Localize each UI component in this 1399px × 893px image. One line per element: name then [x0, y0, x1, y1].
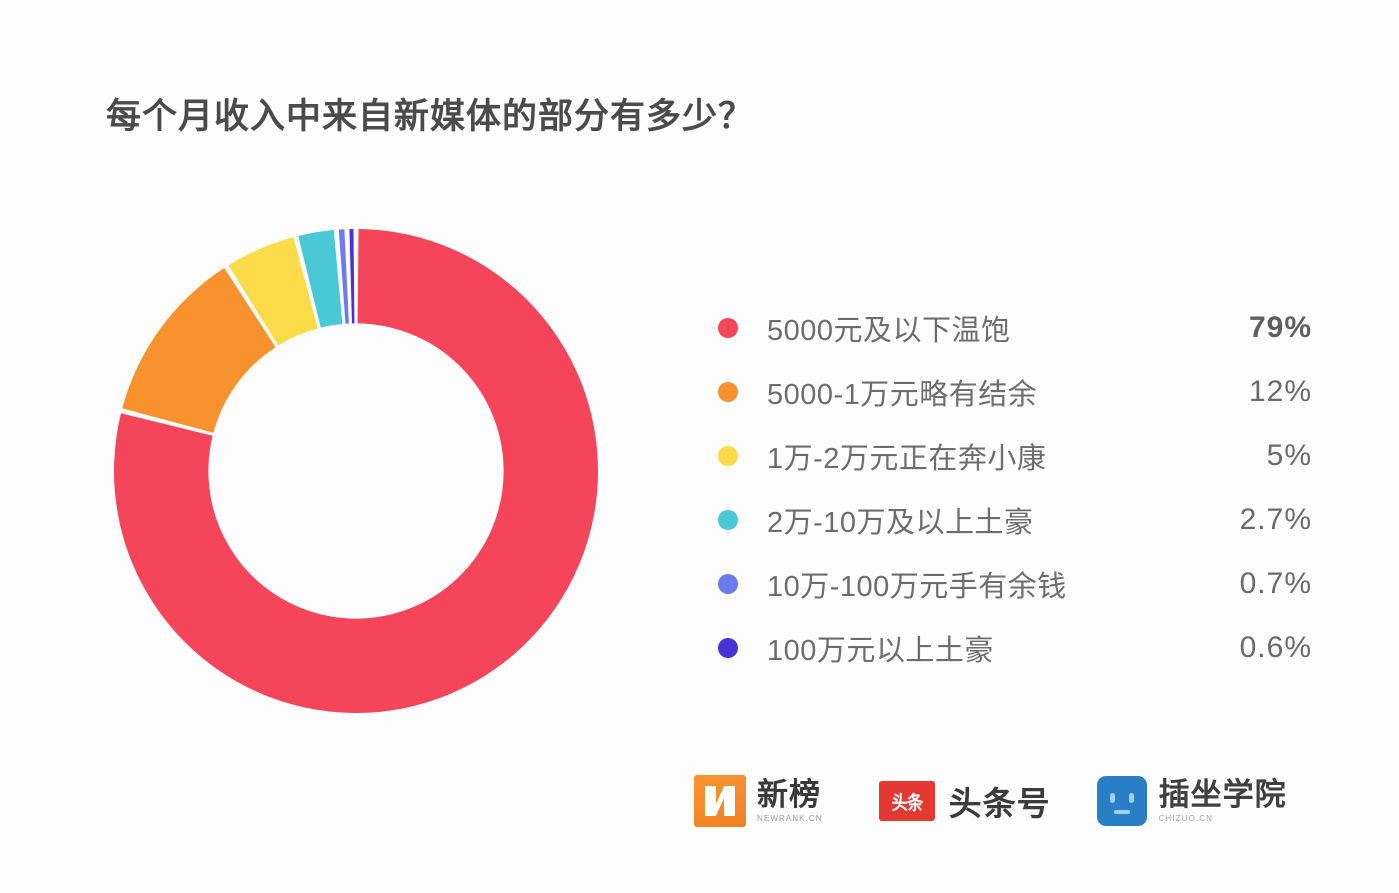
legend-item-label: 1万-2万元正在奔小康 [767, 435, 1046, 477]
chizuo-wordmark: 插坐学院 CHIZUO.CN [1159, 779, 1287, 823]
legend-color-swatch-icon [718, 574, 738, 594]
legend-item[interactable]: 10万-100万元手有余钱0.7% [712, 552, 1312, 616]
logo-chizuo: 插坐学院 CHIZUO.CN [1097, 776, 1287, 826]
legend-item-label: 100万元以上土豪 [767, 627, 994, 669]
legend-item-percent: 5% [1267, 439, 1312, 473]
newrank-name-en: NEWRANK.CN [757, 814, 823, 823]
chizuo-mouth-icon [1114, 810, 1130, 814]
newrank-name-cn: 新榜 [757, 779, 823, 811]
footer-logo-row: 新榜 NEWRANK.CN 头条 头条号 插坐学院 CHIZUO.CN [694, 775, 1287, 827]
legend-item-label: 5000-1万元略有结余 [767, 371, 1037, 413]
legend-item-percent: 0.7% [1240, 567, 1312, 601]
legend-color-swatch-icon [718, 446, 738, 466]
legend: 5000元及以下温饱79%5000-1万元略有结余12%1万-2万元正在奔小康5… [712, 296, 1312, 680]
legend-color-swatch-icon [718, 638, 738, 658]
legend-item[interactable]: 2万-10万及以上土豪2.7% [712, 488, 1312, 552]
logo-toutiaohao: 头条 头条号 [879, 777, 1051, 825]
legend-item[interactable]: 5000-1万元略有结余12% [712, 360, 1312, 424]
chizuo-mark-icon [1097, 776, 1147, 826]
legend-item-label: 5000元及以下温饱 [767, 307, 1011, 349]
newrank-glyph-icon [702, 782, 738, 820]
legend-item-percent: 0.6% [1240, 631, 1312, 665]
legend-item-percent: 12% [1249, 375, 1312, 409]
legend-item-label: 10万-100万元手有余钱 [767, 563, 1067, 605]
newrank-mark-icon [694, 775, 746, 827]
legend-item[interactable]: 100万元以上土豪0.6% [712, 616, 1312, 680]
donut-chart-svg [110, 225, 602, 717]
legend-item-label: 2万-10万及以上土豪 [767, 499, 1034, 541]
legend-color-swatch-icon [718, 382, 738, 402]
legend-item-percent: 2.7% [1240, 503, 1312, 537]
logo-newrank: 新榜 NEWRANK.CN [694, 775, 823, 827]
slide-canvas: 每个月收入中来自新媒体的部分有多少？ 5000元及以下温饱79%5000-1万元… [0, 0, 1399, 893]
donut-slice[interactable] [349, 229, 354, 323]
chizuo-name-cn: 插坐学院 [1159, 779, 1287, 811]
toutiao-mark-icon: 头条 [879, 781, 935, 821]
toutiao-name-cn: 头条号 [949, 777, 1051, 825]
toutiao-mark-text: 头条 [891, 788, 922, 815]
donut-chart [110, 225, 602, 717]
newrank-wordmark: 新榜 NEWRANK.CN [757, 779, 823, 823]
legend-item[interactable]: 5000元及以下温饱79% [712, 296, 1312, 360]
page-title: 每个月收入中来自新媒体的部分有多少？ [106, 88, 754, 139]
chizuo-name-en: CHIZUO.CN [1159, 814, 1287, 823]
chizuo-eye-right-icon [1129, 793, 1134, 803]
legend-item-percent: 79% [1249, 311, 1312, 345]
legend-color-swatch-icon [718, 510, 738, 530]
chizuo-eye-left-icon [1110, 793, 1115, 803]
legend-item[interactable]: 1万-2万元正在奔小康5% [712, 424, 1312, 488]
legend-color-swatch-icon [718, 318, 738, 338]
